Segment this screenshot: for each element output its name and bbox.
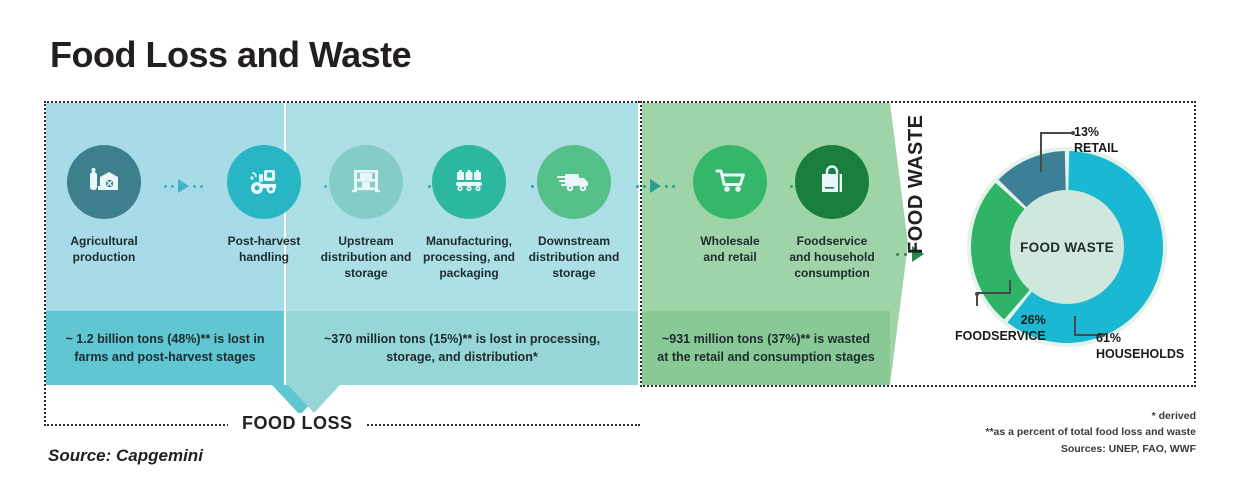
callout-foodservice-value: 26% [955, 312, 1046, 328]
dot-icon [665, 185, 668, 188]
food-loss-band-label: FOOD LOSS [228, 413, 367, 434]
delivery-truck-icon [554, 160, 594, 205]
stat-pointer-processing [288, 385, 340, 413]
callout-households: 61% HOUSEHOLDS [1096, 330, 1184, 363]
callout-households-value: 61% [1096, 330, 1184, 346]
stage-label: Upstream distribution and storage [321, 233, 412, 282]
footnotes: * derived **as a percent of total food l… [985, 408, 1196, 457]
stage-icon-circle [67, 145, 141, 219]
shopping-bag-icon [812, 160, 852, 205]
stat-bar-processing: ~370 million tons (15%)** is lost in pro… [286, 311, 638, 385]
stage-icon-circle [537, 145, 611, 219]
stage-downstream-distribution[interactable]: Downstream distribution and storage [516, 145, 632, 282]
footnote-derived: * derived [985, 408, 1196, 424]
callout-foodservice: 26% FOODSERVICE [955, 312, 1046, 345]
stage-label: Post-harvest handling [228, 233, 301, 265]
footnote-percent-basis: **as a percent of total food loss and wa… [985, 424, 1196, 440]
stage-label: Manufacturing, processing, and packaging [423, 233, 515, 282]
stage-icon-circle [432, 145, 506, 219]
warehouse-rack-icon [346, 160, 386, 205]
stage-label: Wholesale and retail [700, 233, 759, 265]
stage-icon-circle [329, 145, 403, 219]
stage-upstream-distribution[interactable]: Upstream distribution and storage [308, 145, 424, 282]
stage-agricultural-production[interactable]: Agricultural production [46, 145, 162, 265]
stage-flow: Agricultural production Post-harvest han… [46, 103, 890, 311]
stage-wholesale-retail[interactable]: Wholesale and retail [672, 145, 788, 265]
dot-icon [200, 185, 203, 188]
callout-retail: 13% RETAIL [1074, 124, 1118, 157]
stage-manufacturing-packaging[interactable]: Manufacturing, processing, and packaging [411, 145, 527, 282]
dot-icon [636, 185, 639, 188]
stage-label: Foodservice and household consumption [789, 233, 874, 282]
dot-icon [643, 185, 646, 188]
stat-bar-consumption: ~931 million tons (37%)** is wasted at t… [642, 311, 890, 385]
stage-post-harvest-handling[interactable]: Post-harvest handling [206, 145, 322, 265]
flow-arrow-1 [164, 179, 203, 193]
flow-arrow-5 [636, 179, 675, 193]
tractor-icon [244, 160, 284, 205]
shopping-cart-icon [710, 160, 750, 205]
source-attribution: Source: Capgemini [48, 446, 203, 466]
dot-icon [164, 185, 167, 188]
stage-label: Agricultural production [70, 233, 137, 265]
food-waste-band-label: FOOD WASTE [905, 115, 928, 254]
stat-bar-production: ~ 1.2 billion tons (48%)** is lost in fa… [46, 311, 284, 385]
arrow-icon [650, 179, 661, 193]
dot-icon [193, 185, 196, 188]
callout-households-label: HOUSEHOLDS [1096, 346, 1184, 362]
stage-icon-circle [795, 145, 869, 219]
conveyor-boxes-icon [449, 160, 489, 205]
stage-icon-circle [693, 145, 767, 219]
dot-icon [896, 253, 899, 256]
callout-retail-label: RETAIL [1074, 140, 1118, 156]
arrow-icon [178, 179, 189, 193]
barn-silo-icon [84, 160, 124, 205]
stage-label: Downstream distribution and storage [529, 233, 620, 282]
dot-icon [171, 185, 174, 188]
footnote-sources: Sources: UNEP, FAO, WWF [985, 441, 1196, 457]
stage-icon-circle [227, 145, 301, 219]
page-title: Food Loss and Waste [50, 34, 411, 76]
callout-retail-value: 13% [1074, 124, 1118, 140]
stage-foodservice-household[interactable]: Foodservice and household consumption [774, 145, 890, 282]
callout-foodservice-label: FOODSERVICE [955, 328, 1046, 344]
